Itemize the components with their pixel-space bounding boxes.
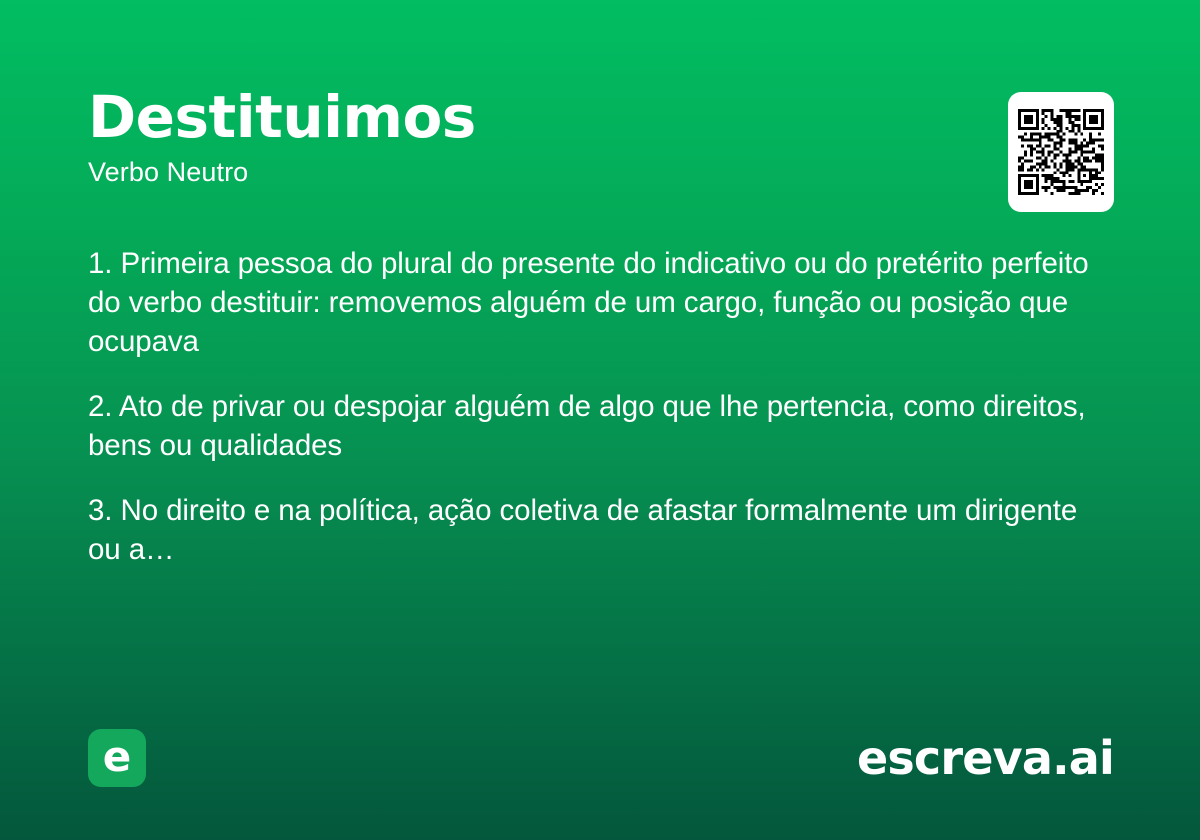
definition-item: 2. Ato de privar ou despojar alguém de a… [88,388,1098,466]
logo-letter: e [103,736,132,778]
escreva-logo-icon[interactable]: e [88,729,146,787]
qr-code-icon[interactable] [1018,109,1104,195]
brand-wordmark: escreva.ai [857,735,1114,781]
card-footer: e escreva.ai [88,728,1114,788]
definition-item: 3. No direito e na política, ação coleti… [88,492,1098,570]
qr-code-container[interactable] [1008,92,1114,212]
word-class-label: Verbo Neutro [88,157,1112,188]
definition-item: 1. Primeira pessoa do plural do presente… [88,245,1098,362]
card-header: Destituimos Verbo Neutro [88,86,1112,188]
definition-list: 1. Primeira pessoa do plural do presente… [88,245,1098,570]
page-title: Destituimos [88,86,1112,149]
definition-card: Destituimos Verbo Neutro 1. Primeira pes… [0,0,1200,840]
